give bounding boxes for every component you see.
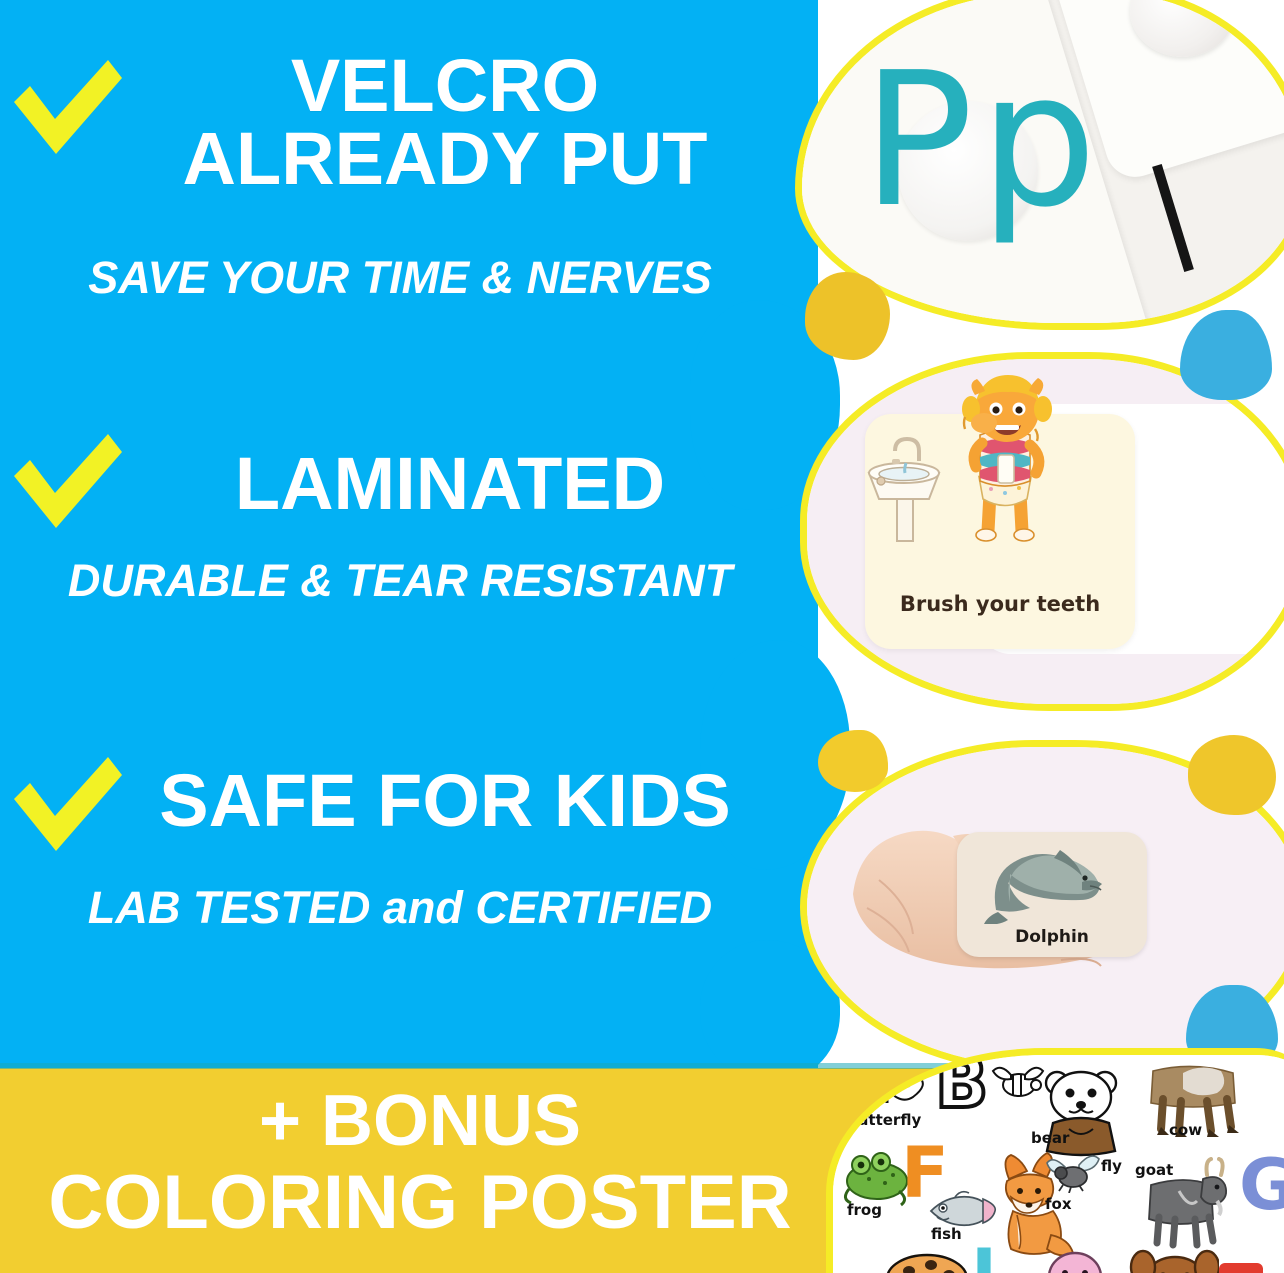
bonus-text: + BONUS COLORING POSTER [0, 1085, 840, 1241]
fly-illustration [1045, 1153, 1103, 1193]
feature-title: LAMINATED [120, 448, 780, 521]
product-feature-poster: Pp [0, 0, 1284, 1273]
card-caption: Brush your teeth [865, 592, 1135, 616]
alphabet-poster-grid: butterfly B [839, 1061, 1284, 1273]
poster-label: cow [1169, 1121, 1202, 1139]
feature-title: VELCRO ALREADY PUT [120, 50, 770, 195]
flashcard-letters: Pp [862, 48, 1103, 233]
bonus-line-1: + BONUS [0, 1085, 840, 1157]
child-brushing-teeth-illustration [935, 365, 1075, 555]
jellyfish-illustration [1045, 1251, 1105, 1273]
gold-blob-decoration [805, 272, 890, 360]
poster-label: frog [847, 1201, 882, 1219]
gold-blob-decoration [818, 730, 888, 792]
checkmark-icon [8, 432, 126, 537]
feature-title-line-1: SAFE FOR KIDS [159, 759, 730, 842]
brush-your-teeth-card-photo: Brush your teeth [800, 352, 1284, 711]
poster-item-goat: goat [1139, 1157, 1235, 1258]
poster-label: fly [1101, 1157, 1122, 1175]
blue-droplet-decoration [1180, 310, 1272, 400]
poster-letter-G: G [1239, 1157, 1284, 1213]
poster-label: bear [1031, 1129, 1069, 1147]
poster-item-fly: fly [1045, 1153, 1103, 1198]
feature-title-line-2: ALREADY PUT [183, 117, 708, 200]
photo-content: Pp [802, 0, 1284, 323]
photo-content: Brush your teeth [807, 359, 1284, 704]
poster-item-jellyfish [1045, 1251, 1105, 1273]
red-letter-shape-icon [1213, 1257, 1269, 1273]
feature-title-line-1: VELCRO [291, 44, 599, 127]
card-caption: Dolphin [957, 927, 1147, 947]
poster-item-letter-red [1213, 1257, 1269, 1273]
photo-content: butterfly B [833, 1055, 1284, 1273]
poster-label: goat [1135, 1161, 1173, 1179]
feature-subtitle: LAB TESTED and CERTIFIED [30, 885, 770, 930]
poster-letter-B: B [935, 1055, 988, 1111]
checkmark-icon [8, 58, 126, 163]
poster-item-cow: cow [1143, 1061, 1243, 1144]
poster-label: butterfly [847, 1111, 921, 1129]
feature-subtitle: SAVE YOUR TIME & NERVES [30, 255, 770, 300]
poster-item-butterfly: butterfly [845, 1061, 929, 1118]
bonus-line-2: COLORING POSTER [0, 1165, 840, 1241]
poster-item-deer [1129, 1247, 1219, 1273]
dolphin-illustration [982, 844, 1112, 924]
gold-blob-decoration [1188, 735, 1276, 815]
feature-list: VELCRO ALREADY PUT SAVE YOUR TIME & NERV… [0, 0, 790, 1068]
poster-item-fish: fish [925, 1189, 997, 1238]
deer-illustration [1129, 1247, 1219, 1273]
poster-letter-J: J [971, 1247, 997, 1273]
poster-item-bear: bear [1039, 1067, 1125, 1162]
butterfly-outline-icon [845, 1061, 929, 1113]
jaguar-illustration [883, 1249, 969, 1273]
feature-subtitle: DURABLE & TEAR RESISTANT [20, 558, 780, 603]
feature-title-line-1: LAMINATED [235, 442, 665, 525]
poster-label: fish [931, 1225, 962, 1243]
feature-title: SAFE FOR KIDS [100, 765, 790, 838]
poster-item-jaguar [883, 1249, 969, 1273]
coloring-poster-photo: butterfly B [826, 1048, 1284, 1273]
